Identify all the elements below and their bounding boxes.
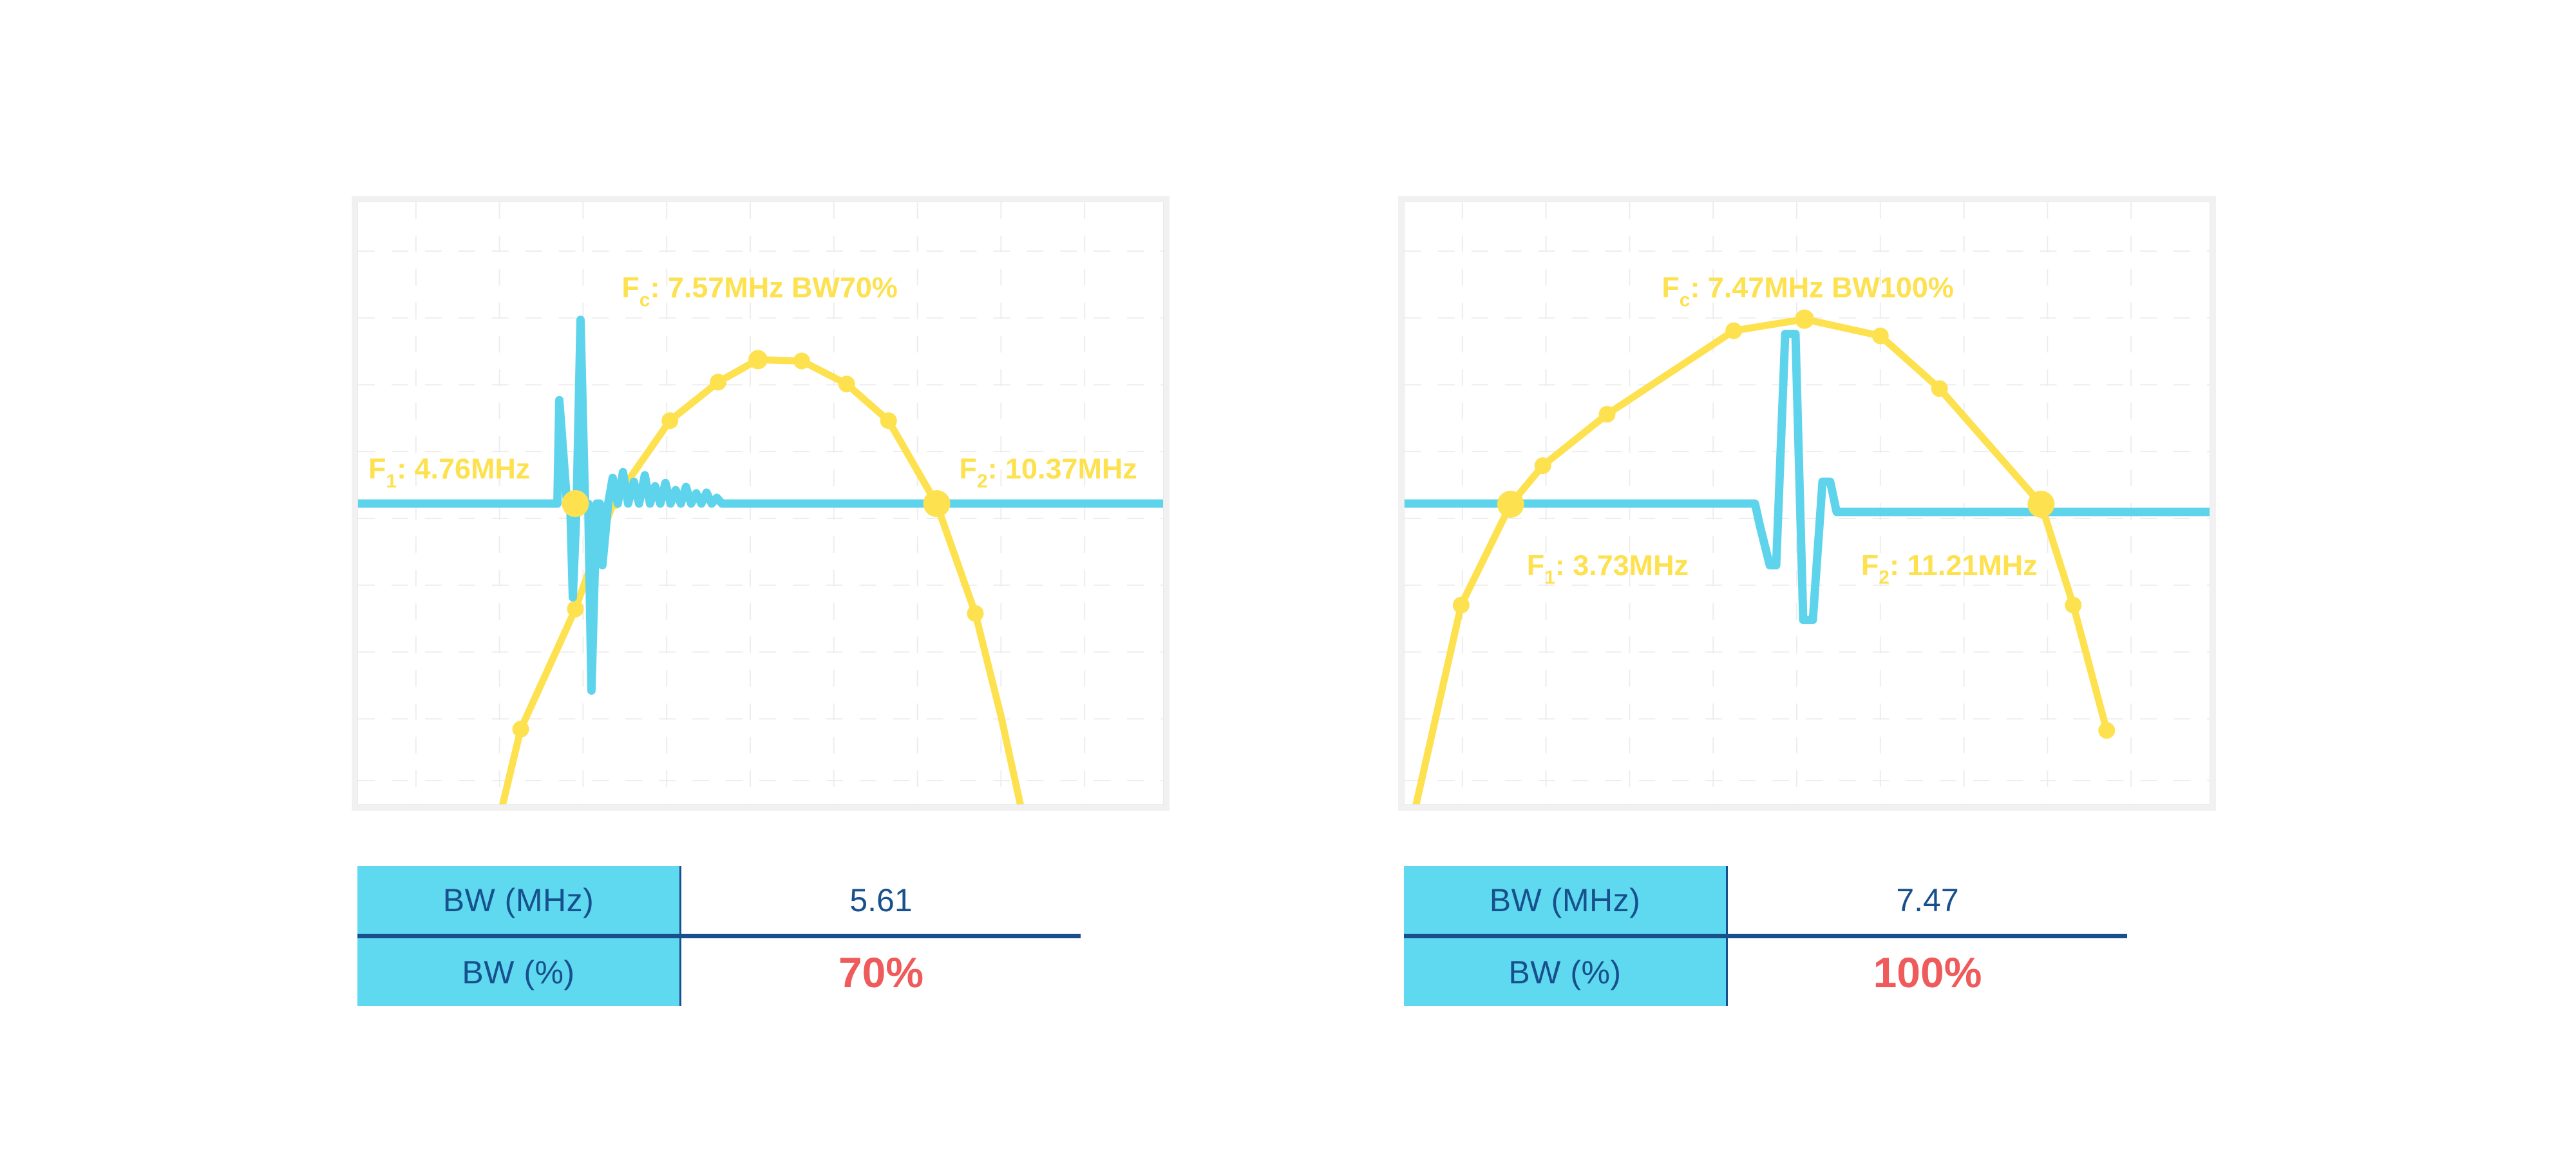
bw-pct-header: BW (%) [1404,936,1727,1007]
fc-label-left: Fc: 7.57MHz BW70% [621,271,898,311]
panel-left: Fc: 7.57MHz BW70% F1: 4.76MHz F2: 10.37M… [277,0,1346,1154]
bw-mhz-header: BW (MHz) [357,866,681,936]
bw-mhz-value: 5.61 [681,866,1081,936]
f2-label-left: F2: 10.37MHz [960,452,1137,492]
table-row: BW (MHz) 5.61 [357,866,1081,936]
f1-label-right: F1: 3.73MHz [1527,549,1689,589]
f1-label-left: F1: 4.76MHz [368,452,530,492]
table-row: BW (%) 100% [1404,936,2127,1007]
table-row: BW (%) 70% [357,936,1081,1007]
chart-frame-right: Fc: 7.47MHz BW100% F1: 3.73MHz F2: 11.21… [1404,202,2210,805]
bw-pct-value: 70% [681,936,1081,1007]
panel-right: Fc: 7.47MHz BW100% F1: 3.73MHz F2: 11.21… [1323,0,2392,1154]
f2-marker [2027,491,2054,518]
pulse-waveform [358,320,1163,691]
bw-mhz-header: BW (MHz) [1404,866,1727,936]
bw-table-wrap-right: BW (MHz) 7.47 BW (%) 100% [1404,866,2190,1006]
bw-pct-header: BW (%) [357,936,681,1007]
bandwidth-chart-right: Fc: 7.47MHz BW100% F1: 3.73MHz F2: 11.21… [1405,202,2210,804]
pulse-waveform [1405,334,2210,620]
f2-label-right: F2: 11.21MHz [1861,549,2038,589]
f1-marker [1497,491,1524,518]
figure-canvas: Fc: 7.57MHz BW70% F1: 4.76MHz F2: 10.37M… [0,0,2576,1154]
bw-pct-value: 100% [1727,936,2128,1007]
bw-table-left: BW (MHz) 5.61 BW (%) 70% [357,866,1081,1006]
chart-frame-left: Fc: 7.57MHz BW70% F1: 4.76MHz F2: 10.37M… [357,202,1164,805]
bw-table-right: BW (MHz) 7.47 BW (%) 100% [1404,866,2127,1006]
f2-marker [923,490,951,517]
f1-marker [562,490,589,517]
bw-table-wrap-left: BW (MHz) 5.61 BW (%) 70% [357,866,1143,1006]
bandwidth-chart-left: Fc: 7.57MHz BW70% F1: 4.76MHz F2: 10.37M… [358,202,1163,804]
table-row: BW (MHz) 7.47 [1404,866,2127,936]
bw-mhz-value: 7.47 [1727,866,2128,936]
fc-label-right: Fc: 7.47MHz BW100% [1662,271,1953,311]
